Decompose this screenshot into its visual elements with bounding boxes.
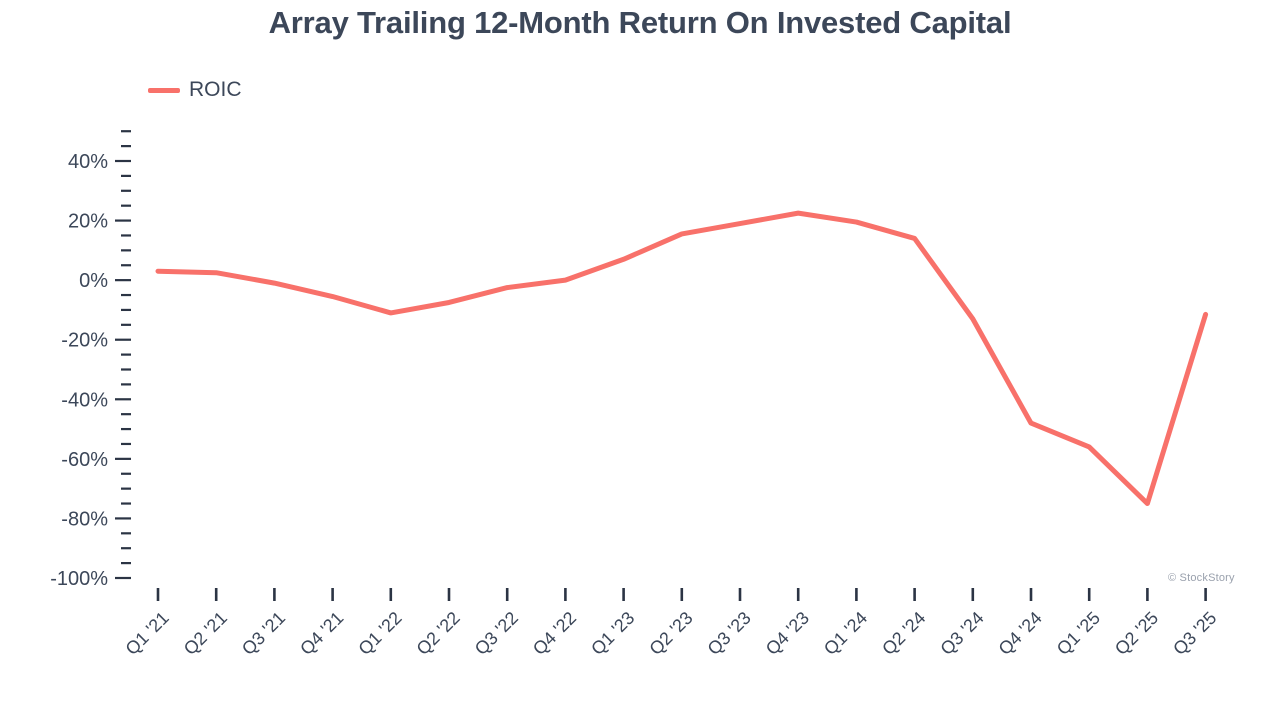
y-axis-label: -80%: [61, 508, 108, 530]
x-axis-label: Q3 '21: [238, 608, 289, 659]
x-axis-label: Q2 '23: [645, 608, 696, 659]
y-axis-label: 40%: [68, 151, 108, 173]
x-axis-label: Q3 '24: [936, 608, 987, 659]
y-axis-label: -100%: [50, 568, 108, 590]
x-axis-label: Q3 '22: [471, 608, 522, 659]
y-axis-label: -60%: [61, 449, 108, 471]
x-axis-label: Q1 '24: [820, 608, 871, 659]
x-axis-label: Q4 '23: [762, 608, 813, 659]
y-axis-label: 0%: [79, 270, 108, 292]
series-roic: [158, 213, 1206, 503]
watermark: © StockStory: [1168, 572, 1235, 584]
x-axis-label: Q3 '23: [704, 608, 755, 659]
x-axis-label: Q4 '22: [529, 608, 580, 659]
x-axis-label: Q4 '21: [296, 608, 347, 659]
series-roic-line: [158, 213, 1206, 503]
x-axis-label: Q2 '24: [878, 608, 929, 659]
chart-plot-area: 40%20%0%-20%-40%-60%-80%-100% Q1 '21Q2 '…: [0, 0, 1280, 720]
chart-container: Array Trailing 12-Month Return On Invest…: [0, 0, 1280, 720]
x-axis-label: Q3 '25: [1169, 608, 1220, 659]
x-axis-label: Q1 '23: [587, 608, 638, 659]
x-axis: Q1 '21Q2 '21Q3 '21Q4 '21Q1 '22Q2 '22Q3 '…: [122, 588, 1221, 659]
x-axis-label: Q1 '21: [122, 608, 173, 659]
x-axis-label: Q4 '24: [995, 608, 1046, 659]
x-axis-label: Q2 '22: [413, 608, 464, 659]
y-axis-label: 20%: [68, 211, 108, 233]
y-axis-label: -40%: [61, 389, 108, 411]
x-axis-label: Q2 '25: [1111, 608, 1162, 659]
x-axis-label: Q2 '21: [180, 608, 231, 659]
y-axis-label: -20%: [61, 330, 108, 352]
x-axis-label: Q1 '22: [354, 608, 405, 659]
y-axis: 40%20%0%-20%-40%-60%-80%-100%: [50, 131, 131, 590]
x-axis-label: Q1 '25: [1053, 608, 1104, 659]
